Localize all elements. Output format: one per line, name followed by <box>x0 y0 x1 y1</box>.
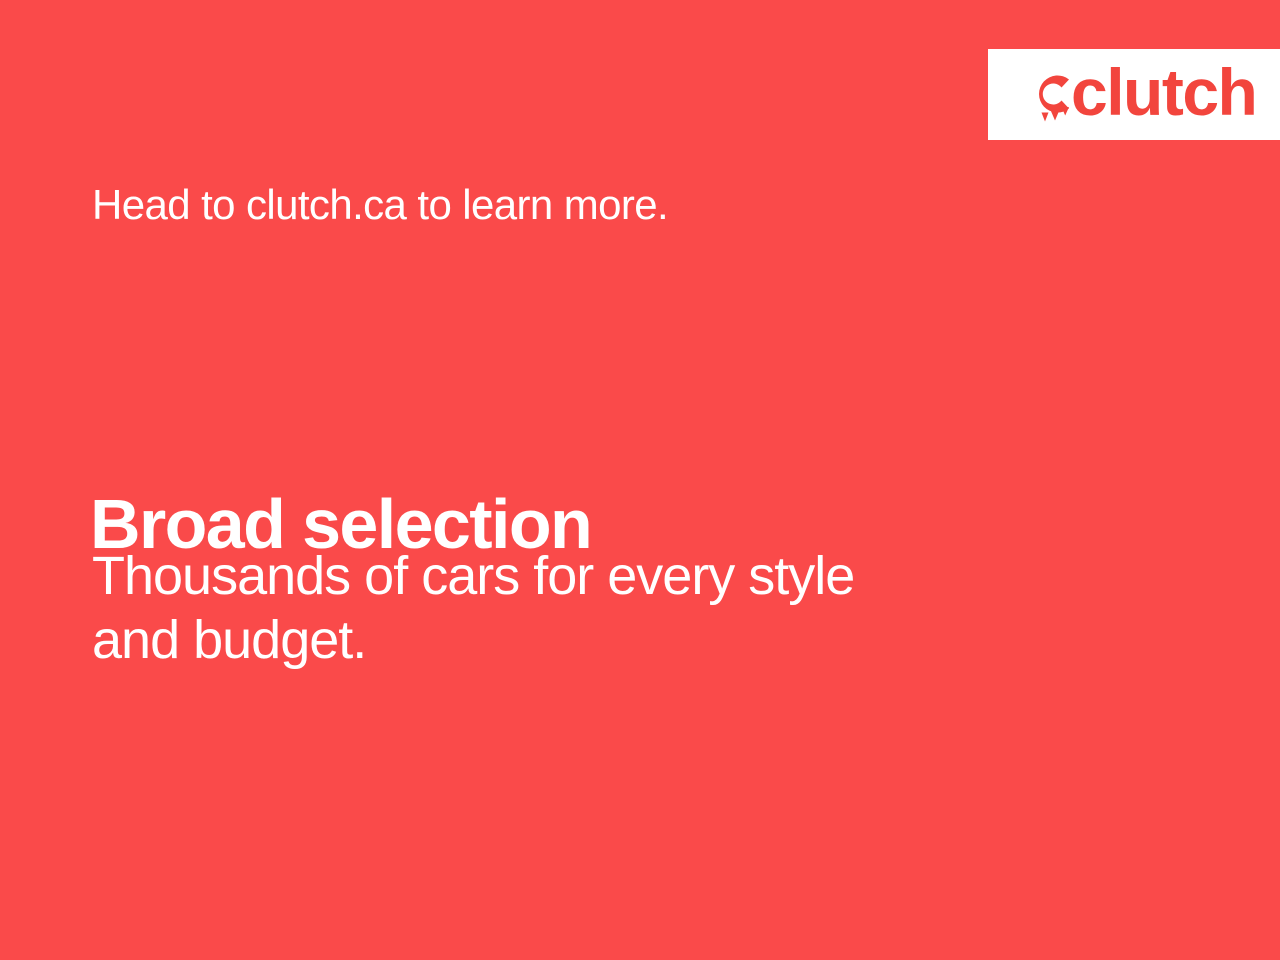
promo-slide: clutch Head to clutch.ca to learn more. … <box>0 0 1280 960</box>
logo-wordmark: clutch <box>1071 59 1256 125</box>
subhead-text: Thousands of cars for every style and bu… <box>92 544 1052 672</box>
eyebrow-text: Head to clutch.ca to learn more. <box>92 180 668 230</box>
subhead-line-1: Thousands of cars for every style <box>92 544 1052 608</box>
clutch-logo[interactable]: clutch <box>1028 57 1256 131</box>
subhead-line-2: and budget. <box>92 608 1052 672</box>
logo-plate: clutch <box>988 49 1280 140</box>
clutch-c-mark-icon <box>1028 57 1072 131</box>
